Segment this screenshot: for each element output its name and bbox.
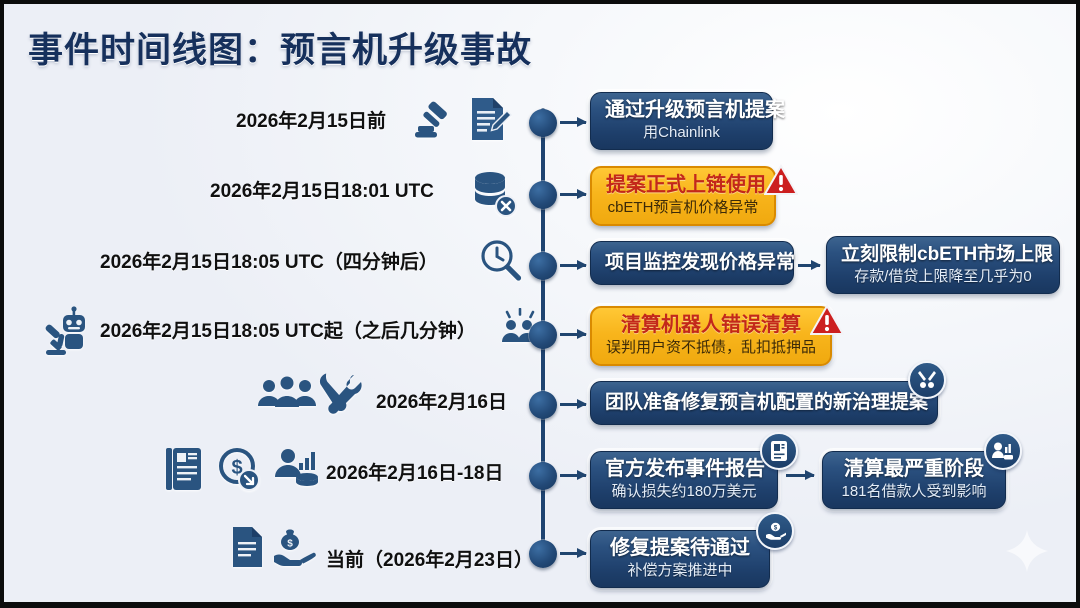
- card-subtitle: 存款/借贷上限降至几乎为0: [841, 267, 1045, 287]
- timeline-node-2[interactable]: [529, 181, 557, 209]
- tools-icon: [314, 371, 364, 419]
- connector-arrow-3b: [798, 264, 820, 267]
- card-title: 清算机器人错误清算: [606, 313, 816, 338]
- card-subtitle: 用Chainlink: [605, 123, 758, 143]
- card-title: 修复提案待通过: [605, 536, 755, 561]
- robot-gavel-icon: [44, 304, 98, 360]
- team-people-icon: [256, 374, 318, 416]
- row-time-label-1: 2026年2月15日前: [236, 106, 386, 133]
- warning-triangle-icon: [764, 164, 798, 201]
- gavel-icon: [410, 100, 454, 144]
- event-card-3-1[interactable]: 项目监控发现价格异常: [590, 241, 794, 285]
- event-card-6-2[interactable]: 清算最严重阶段 181名借款人受到影响: [822, 451, 1006, 509]
- connector-arrow-1: [560, 121, 586, 124]
- timeline-node-7[interactable]: [529, 540, 557, 568]
- connector-arrow-2: [560, 193, 586, 196]
- card-subtitle: cbETH预言机价格异常: [606, 198, 760, 218]
- card-title: 清算最严重阶段: [837, 457, 991, 482]
- timeline-node-6[interactable]: [529, 462, 557, 490]
- card-subtitle: 补偿方案推进中: [605, 561, 755, 581]
- card-title: 通过升级预言机提案: [605, 98, 758, 123]
- card-title: 官方发布事件报告: [605, 457, 763, 482]
- row-time-label-2: 2026年2月15日18:01 UTC: [210, 176, 434, 203]
- document-icon: [228, 524, 266, 570]
- card-title: 提案正式上链使用: [606, 173, 760, 198]
- connector-arrow-7: [560, 552, 586, 555]
- report-icon: [162, 444, 206, 494]
- card-subtitle: 181名借款人受到影响: [837, 482, 991, 502]
- row-time-label-7: 当前（2026年2月23日）: [326, 545, 533, 572]
- dollar-down-icon: $: [216, 446, 264, 494]
- timeline-node-1[interactable]: [529, 109, 557, 137]
- timeline-node-4[interactable]: [529, 321, 557, 349]
- event-card-3-2[interactable]: 立刻限制cbETH市场上限 存款/借贷上限降至几乎为0: [826, 236, 1060, 294]
- svg-text:$: $: [287, 539, 293, 550]
- report-badge-icon: [760, 432, 798, 470]
- event-card-1-1[interactable]: 通过升级预言机提案 用Chainlink: [590, 92, 773, 150]
- card-title: 项目监控发现价格异常: [605, 250, 779, 275]
- card-subtitle: 误判用户资不抵债，乱扣抵押品: [606, 338, 816, 358]
- connector-arrow-6b: [786, 474, 814, 477]
- event-card-4-1[interactable]: 清算机器人错误清算 误判用户资不抵债，乱扣抵押品: [590, 306, 832, 366]
- timeline-node-5[interactable]: [529, 391, 557, 419]
- connector-arrow-6: [560, 474, 586, 477]
- connector-arrow-5: [560, 403, 586, 406]
- database-error-icon: [470, 168, 518, 218]
- row-time-label-5: 2026年2月16日: [376, 387, 507, 414]
- money-hand-icon: $: [272, 528, 318, 570]
- event-card-2-1[interactable]: 提案正式上链使用 cbETH预言机价格异常: [590, 166, 776, 226]
- event-card-6-1[interactable]: 官方发布事件报告 确认损失约180万美元: [590, 451, 778, 509]
- event-card-5-1[interactable]: 团队准备修复预言机配置的新治理提案: [590, 381, 938, 425]
- money-hand-badge-icon: $: [756, 512, 794, 550]
- event-card-7-1[interactable]: 修复提案待通过 补偿方案推进中: [590, 530, 770, 588]
- magnifier-clock-icon: [478, 238, 524, 284]
- timeline-slide: 事件时间线图：预言机升级事故 2026年2月15日前 通过升级预言机提案 用Ch…: [0, 0, 1080, 608]
- connector-arrow-3: [560, 264, 586, 267]
- person-data-badge-icon: [984, 432, 1022, 470]
- person-chart-icon: [272, 444, 322, 494]
- page-title: 事件时间线图：预言机升级事故: [28, 22, 532, 73]
- sparkle-watermark-icon: [1004, 528, 1050, 574]
- timeline-node-3[interactable]: [529, 252, 557, 280]
- connector-arrow-4: [560, 333, 586, 336]
- row-time-label-4: 2026年2月15日18:05 UTC起（之后几分钟）: [100, 316, 476, 343]
- warning-triangle-icon: [810, 304, 844, 341]
- card-title: 团队准备修复预言机配置的新治理提案: [605, 390, 923, 415]
- row-time-label-3: 2026年2月15日18:05 UTC（四分钟后）: [100, 247, 438, 274]
- tools-badge-icon: [908, 361, 946, 399]
- row-time-label-6: 2026年2月16日-18日: [326, 458, 503, 485]
- card-subtitle: 确认损失约180万美元: [605, 482, 763, 502]
- card-title: 立刻限制cbETH市场上限: [841, 242, 1045, 267]
- document-edit-icon: [466, 94, 512, 144]
